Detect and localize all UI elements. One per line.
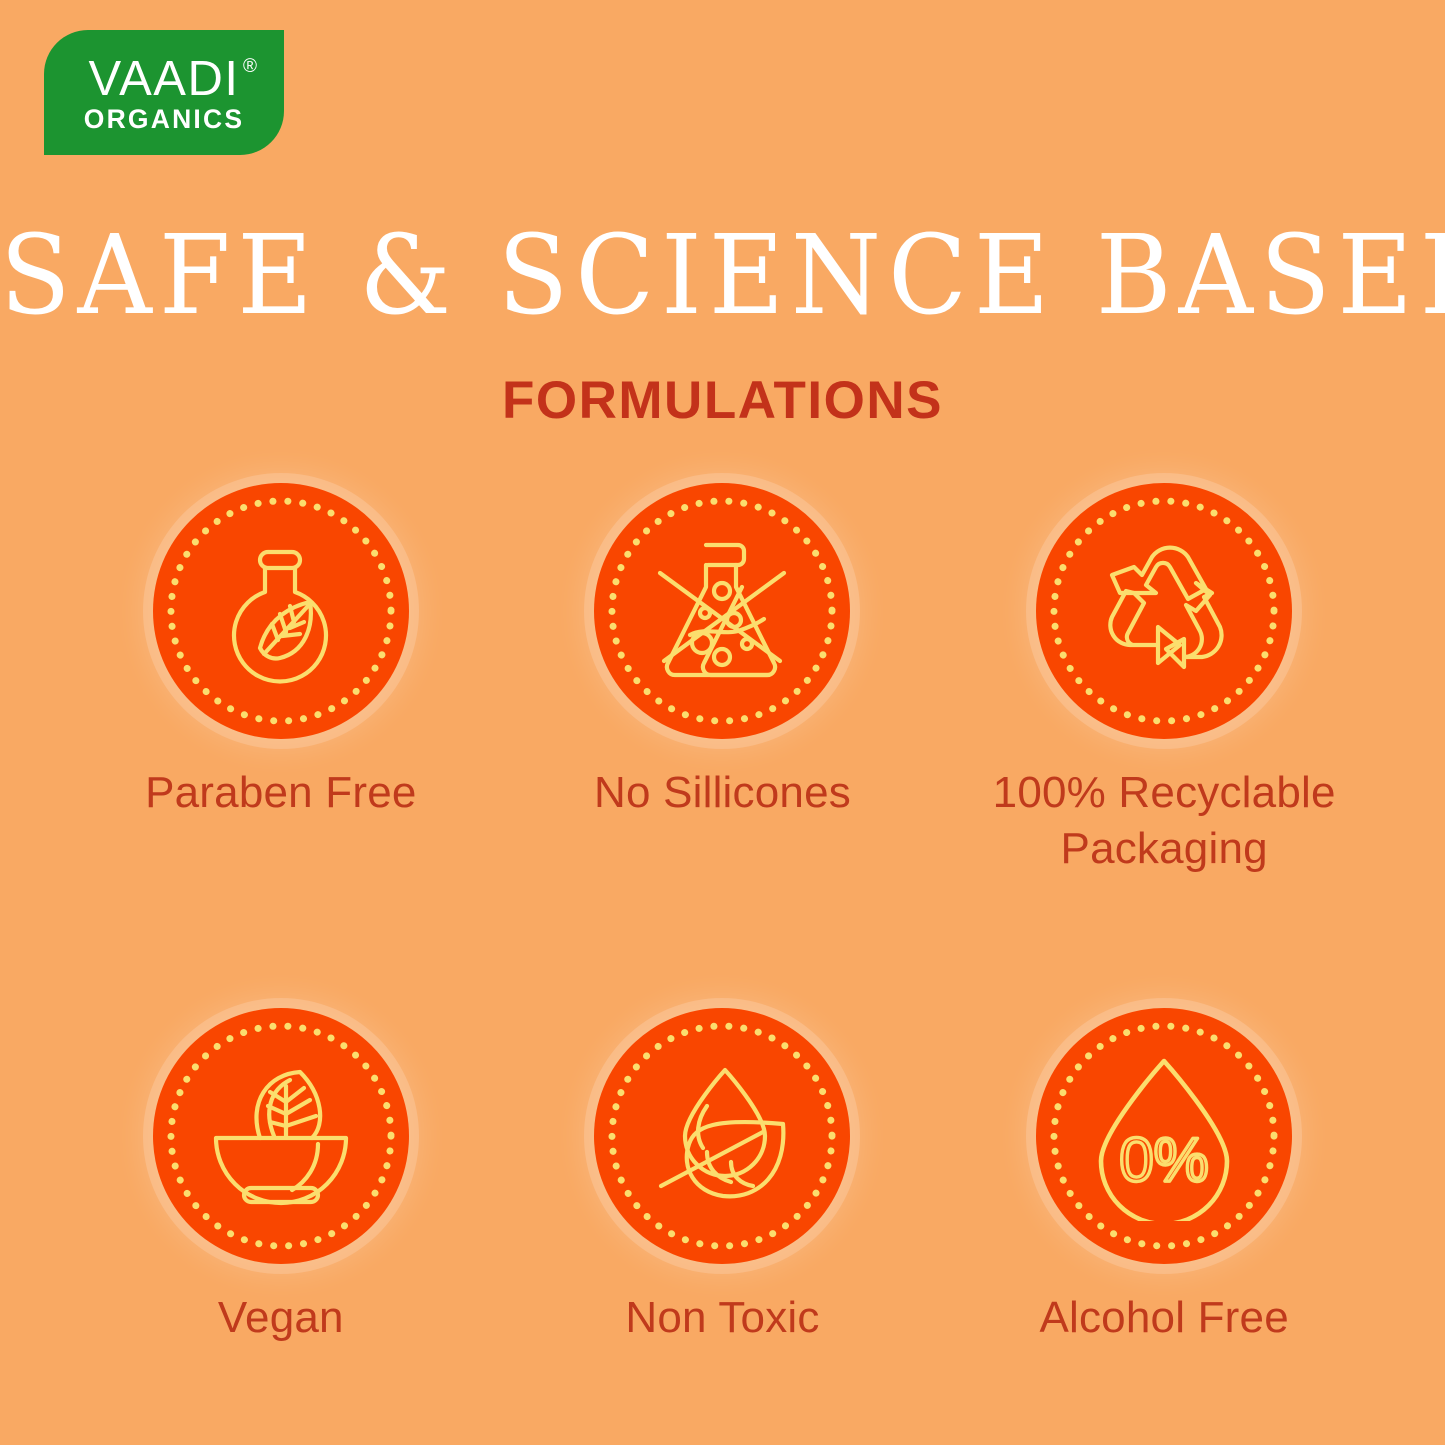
feature-item-no-sillicones: No Sillicones <box>502 483 944 878</box>
feature-item-recyclable-packaging: 100% Recyclable Packaging <box>943 483 1385 878</box>
page-title: SAFE & SCIENCE BASED <box>0 222 1445 331</box>
dotted-ring-decoration <box>1036 483 1292 739</box>
feature-badge <box>1036 483 1292 739</box>
feature-label: No Sillicones <box>594 765 851 821</box>
dotted-ring-decoration <box>1036 1008 1292 1264</box>
brand-name: VAADI® <box>89 55 240 103</box>
feature-label: Vegan <box>218 1290 344 1346</box>
feature-badge <box>153 483 409 739</box>
feature-label: 100% Recyclable Packaging <box>954 765 1374 878</box>
feature-item-non-toxic: Non Toxic <box>502 1008 944 1346</box>
feature-item-vegan: Vegan <box>60 1008 502 1346</box>
dotted-ring-decoration <box>153 483 409 739</box>
brand-logo: VAADI® ORGANICS <box>44 30 284 155</box>
feature-item-alcohol-free: 0% Alcohol Free <box>943 1008 1385 1346</box>
page-subtitle: FORMULATIONS <box>0 374 1445 427</box>
feature-grid: Paraben Free No Sillic <box>60 483 1385 1346</box>
brand-tagline: ORGANICS <box>84 106 244 134</box>
feature-badge: 0% <box>1036 1008 1292 1264</box>
feature-label: Alcohol Free <box>1039 1290 1288 1346</box>
feature-badge <box>153 1008 409 1264</box>
brand-name-text: VAADI <box>89 52 240 106</box>
registered-trademark-icon: ® <box>243 57 259 76</box>
dotted-ring-decoration <box>153 1008 409 1264</box>
feature-label: Non Toxic <box>625 1290 819 1346</box>
dotted-ring-decoration <box>594 483 850 739</box>
feature-badge <box>594 483 850 739</box>
feature-badge <box>594 1008 850 1264</box>
dotted-ring-decoration <box>594 1008 850 1264</box>
feature-item-paraben-free: Paraben Free <box>60 483 502 878</box>
feature-label: Paraben Free <box>145 765 416 821</box>
